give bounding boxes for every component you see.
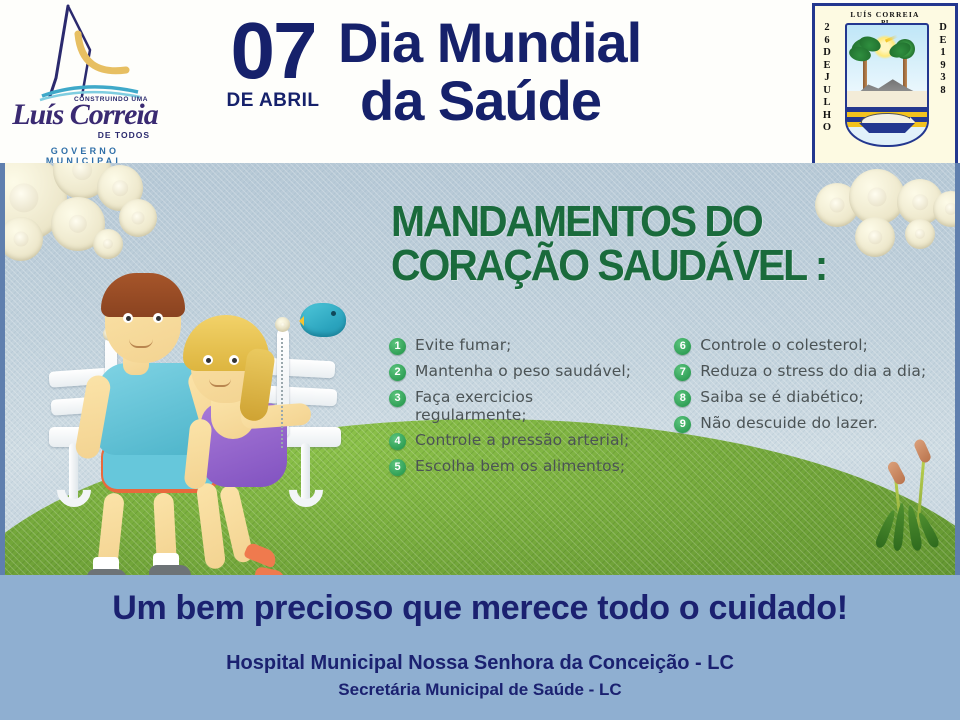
item-number: 2 — [389, 364, 406, 381]
list-item: 7 Reduza o stress do dia a dia; — [674, 362, 959, 381]
item-number: 1 — [389, 338, 406, 355]
item-text: Escolha bem os alimentos; — [415, 457, 625, 475]
bird-icon — [300, 303, 346, 337]
page-title: Dia Mundial da Saúde — [338, 14, 798, 130]
item-number: 7 — [674, 364, 691, 381]
crest-shield — [845, 23, 929, 147]
item-number: 4 — [389, 433, 406, 450]
item-text: Mantenha o peso saudável; — [415, 362, 631, 380]
logo-tagline-bottom: DE TODOS — [98, 130, 150, 140]
item-text: Saiba se é diabético; — [700, 388, 864, 406]
organization-line-1: Hospital Municipal Nossa Senhora da Conc… — [0, 652, 960, 675]
list-item: 5 Escolha bem os alimentos; — [389, 457, 646, 476]
logo-mark-icon — [26, 4, 146, 106]
item-text: Faça exercicios regularmente; — [415, 388, 646, 424]
coat-of-arms-icon: LUÍS CORREIA -PI- 26DEJULHO DE1938 — [812, 3, 958, 166]
logo-city-name: Luís Correia — [12, 100, 158, 130]
poster-header: CONSTRUINDO UMA Luís Correia DE TODOS GO… — [0, 0, 960, 163]
logo-tagline-top: CONSTRUINDO UMA — [74, 96, 148, 103]
title-line-2: da Saúde — [338, 72, 798, 130]
item-number: 8 — [674, 390, 691, 407]
list-item: 8 Saiba se é diabético; — [674, 388, 959, 407]
day-number: 07 — [198, 14, 348, 88]
item-text: Evite fumar; — [415, 336, 512, 354]
list-item: 4 Controle a pressão arterial; — [389, 431, 646, 450]
slogan-text: Um bem precioso que merece todo o cuidad… — [0, 589, 960, 628]
section-headline: MANDAMENTOS DO CORAÇÃO SAUDÁVEL : — [391, 200, 893, 288]
commandments-lists: 1 Evite fumar; 2 Mantenha o peso saudáve… — [389, 336, 959, 483]
crest-left-text: 26DEJULHO — [817, 22, 837, 135]
commandments-right-column: 6 Controle o colesterol; 7 Reduza o stre… — [646, 336, 959, 483]
illustration-panel: MANDAMENTOS DO CORAÇÃO SAUDÁVEL : 1 Evit… — [0, 163, 960, 575]
item-number: 3 — [389, 390, 406, 407]
item-text: Controle a pressão arterial; — [415, 431, 629, 449]
item-number: 6 — [674, 338, 691, 355]
item-number: 9 — [674, 416, 691, 433]
list-item: 2 Mantenha o peso saudável; — [389, 362, 646, 381]
list-item: 3 Faça exercicios regularmente; — [389, 388, 646, 424]
organization-line-2: Secretária Municipal de Saúde - LC — [0, 680, 960, 700]
headline-line-2: CORAÇÃO SAUDÁVEL : — [391, 244, 893, 288]
date-block: 07 DE ABRIL — [198, 14, 348, 112]
crest-right-text: DE1938 — [933, 22, 953, 97]
commandments-left-column: 1 Evite fumar; 2 Mantenha o peso saudáve… — [389, 336, 646, 483]
list-item: 6 Controle o colesterol; — [674, 336, 959, 355]
item-text: Controle o colesterol; — [700, 336, 868, 354]
item-text: Não descuide do lazer. — [700, 414, 878, 432]
title-line-1: Dia Mundial — [338, 14, 798, 72]
headline-line-1: MANDAMENTOS DO — [391, 200, 893, 244]
list-item: 9 Não descuide do lazer. — [674, 414, 959, 433]
item-text: Reduza o stress do dia a dia; — [700, 362, 926, 380]
municipal-logo: CONSTRUINDO UMA Luís Correia DE TODOS GO… — [8, 2, 160, 162]
list-divider — [281, 338, 283, 448]
health-day-poster: CONSTRUINDO UMA Luís Correia DE TODOS GO… — [0, 0, 960, 720]
list-item: 1 Evite fumar; — [389, 336, 646, 355]
item-number: 5 — [389, 459, 406, 476]
poster-footer: Um bem precioso que merece todo o cuidad… — [0, 575, 960, 720]
month-label: DE ABRIL — [198, 90, 348, 112]
